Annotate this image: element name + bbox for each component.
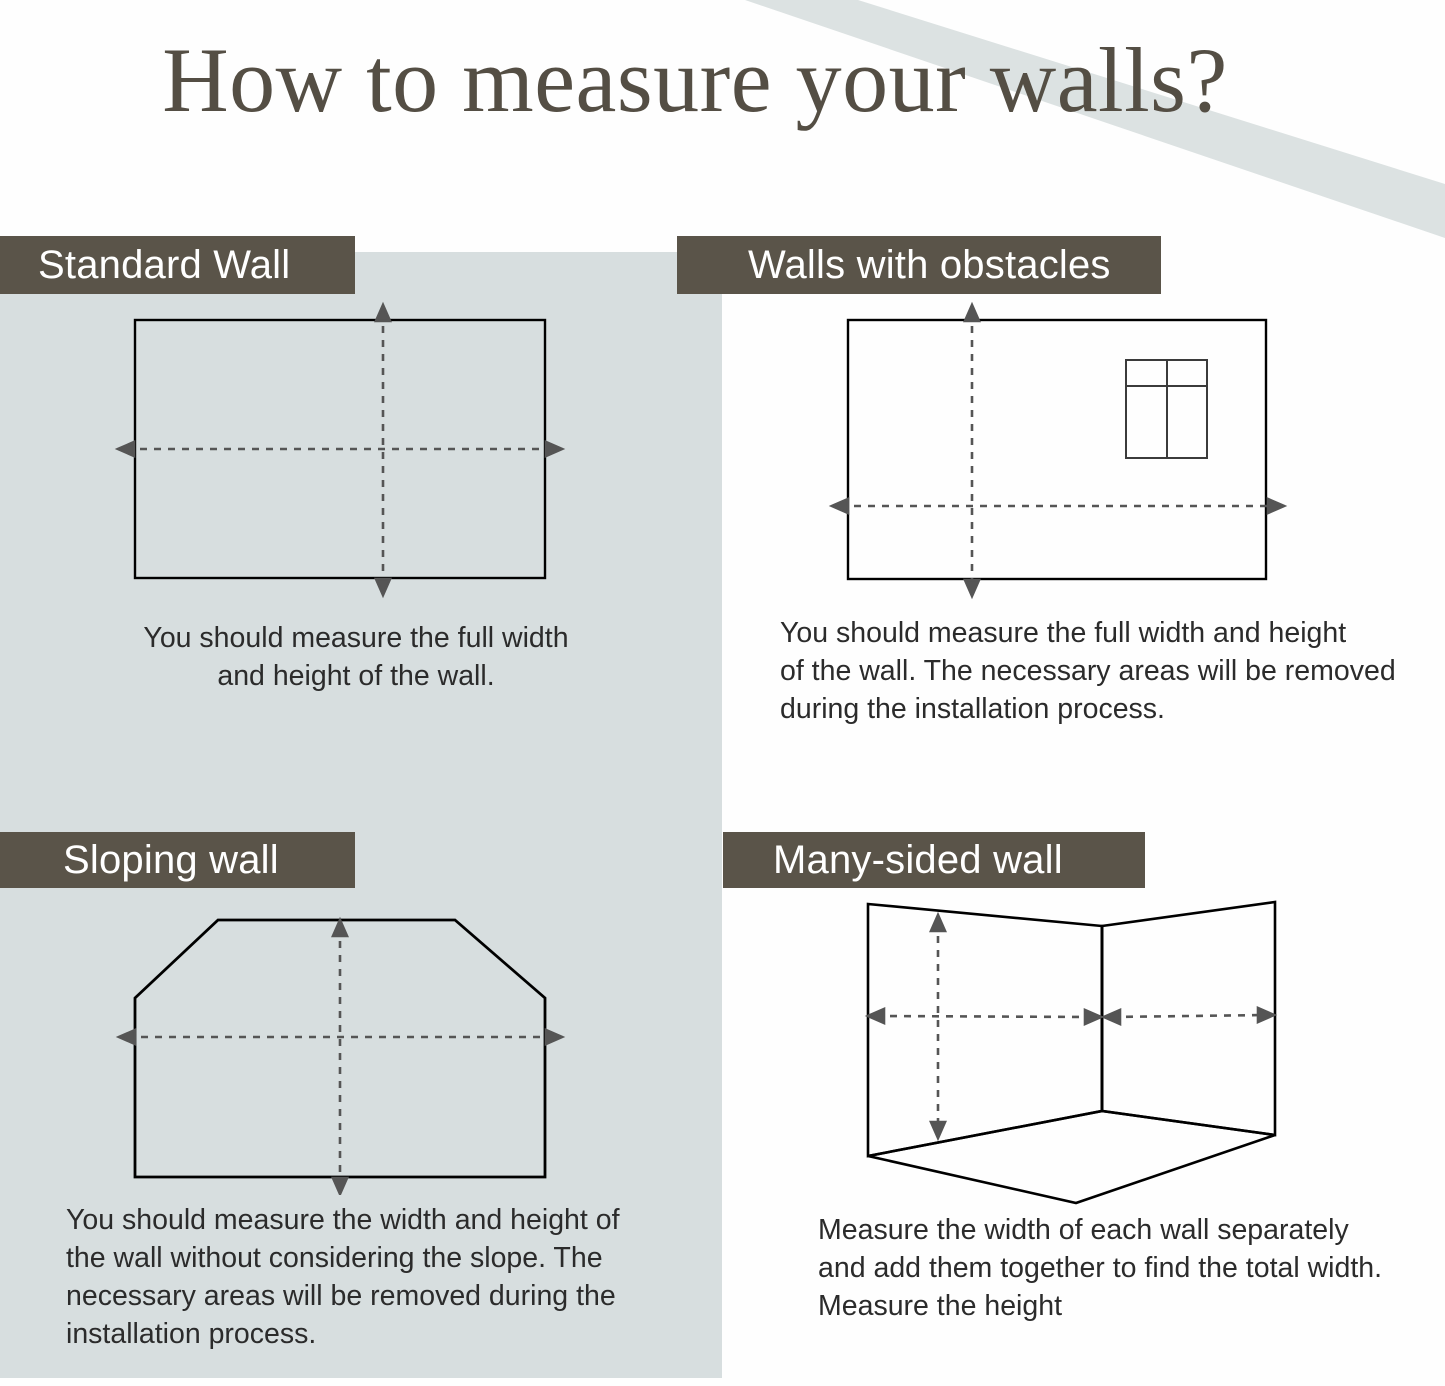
wall-outline	[848, 320, 1266, 579]
caption-line: during the installation process.	[780, 691, 1410, 729]
diagram-standard-wall	[100, 300, 600, 600]
height-arrow-vertical	[965, 305, 979, 596]
caption-line: and height of the wall.	[96, 658, 616, 696]
section-header-sloping-wall: Sloping wall	[0, 832, 355, 888]
caption-line: necessary areas will be removed during t…	[66, 1278, 666, 1316]
caption-line: You should measure the full width and he…	[780, 615, 1410, 653]
caption-line: of the wall. The necessary areas will be…	[780, 653, 1410, 691]
section-header-standard-wall: Standard Wall	[0, 236, 355, 294]
page-title: How to measure your walls?	[0, 28, 1390, 134]
section-header-label: Standard Wall	[38, 243, 290, 288]
caption-line: You should measure the full width	[96, 620, 616, 658]
caption-line: Measure the width of each wall separatel…	[818, 1212, 1428, 1250]
caption-walls-with-obstacles: You should measure the full width and he…	[780, 615, 1410, 729]
right-wall-width-arrow	[1104, 1008, 1274, 1024]
section-header-label: Sloping wall	[63, 838, 279, 883]
caption-line: installation process.	[66, 1316, 666, 1354]
section-header-many-sided-wall: Many-sided wall	[723, 832, 1145, 888]
infographic-page: How to measure your walls? Standard Wall…	[0, 0, 1445, 1386]
caption-line: You should measure the width and height …	[66, 1202, 666, 1240]
left-wall-width-arrow	[868, 1009, 1101, 1024]
diagram-sloping-wall	[100, 895, 600, 1195]
section-header-label: Many-sided wall	[773, 838, 1063, 883]
diagram-walls-with-obstacles	[820, 300, 1300, 600]
caption-line: and add them together to find the total …	[818, 1250, 1428, 1288]
caption-sloping-wall: You should measure the width and height …	[66, 1202, 666, 1354]
width-arrow-horizontal	[118, 442, 562, 456]
diagram-many-sided-wall	[840, 890, 1310, 1210]
room-outline	[868, 902, 1275, 1203]
window-icon	[1126, 360, 1207, 458]
caption-standard-wall: You should measure the full width and he…	[96, 620, 616, 696]
caption-line: the wall without considering the slope. …	[66, 1240, 666, 1278]
caption-line: Measure the height	[818, 1288, 1428, 1326]
height-arrow-vertical	[333, 920, 347, 1194]
section-header-walls-with-obstacles: Walls with obstacles	[677, 236, 1161, 294]
width-arrow-horizontal	[832, 499, 1284, 513]
section-header-label: Walls with obstacles	[748, 243, 1111, 288]
height-arrow-vertical	[931, 915, 945, 1138]
caption-many-sided-wall: Measure the width of each wall separatel…	[818, 1212, 1428, 1326]
